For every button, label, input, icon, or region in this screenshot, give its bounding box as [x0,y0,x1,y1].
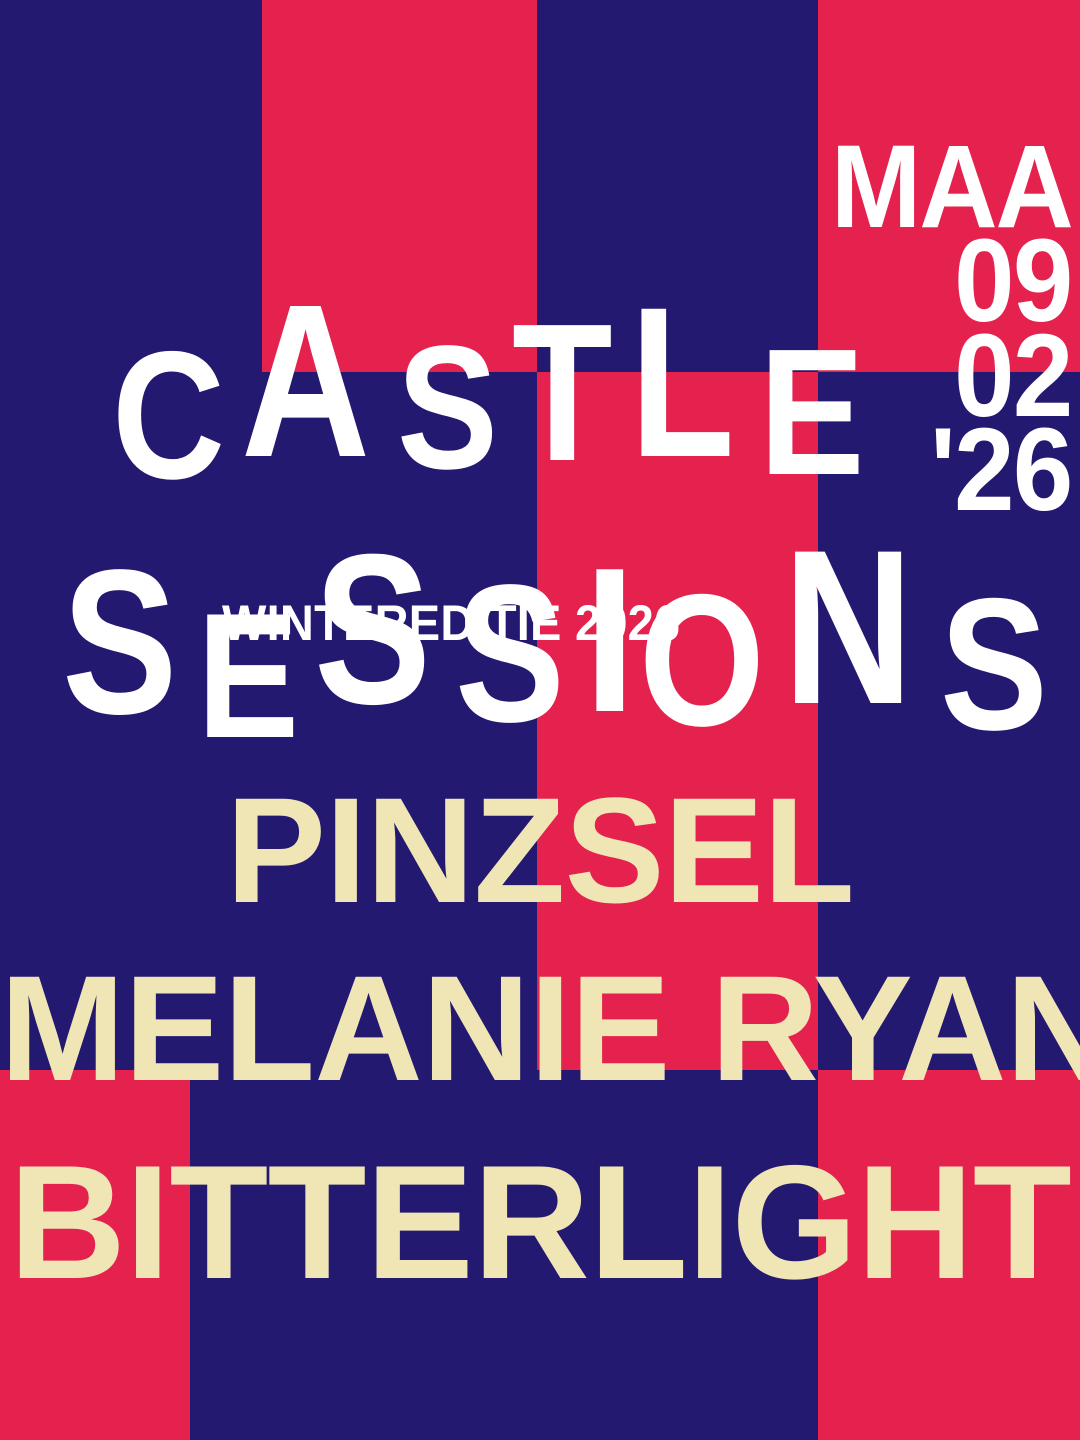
castle-glyph: T [512,319,613,466]
lineup-act-1: PINZSEL [0,790,1080,910]
edition-subtitle: WINTEREDITIE 2026 [222,598,680,648]
date-year: '26 [831,423,1072,517]
castle-glyph: A [241,300,370,464]
title-line-castle: CASTLE [112,300,877,464]
date-block: MAA 09 02 '26 [810,140,1072,518]
sessions-glyph: S [62,565,177,720]
castle-glyph: L [630,303,735,464]
poster-canvas: CASTLE SESSIONS MAA 09 02 '26 WINTEREDIT… [0,0,1080,1440]
castle-glyph: S [397,342,498,474]
castle-glyph: C [112,347,225,484]
lineup-act-2: MELANIE RYAN [0,968,1080,1088]
sessions-glyph: S [940,594,1048,735]
sessions-glyph: N [783,545,913,710]
poster-content: CASTLE SESSIONS MAA 09 02 '26 WINTEREDIT… [0,0,1080,1440]
lineup-act-3: BITTERLIGHT [0,1158,1080,1288]
